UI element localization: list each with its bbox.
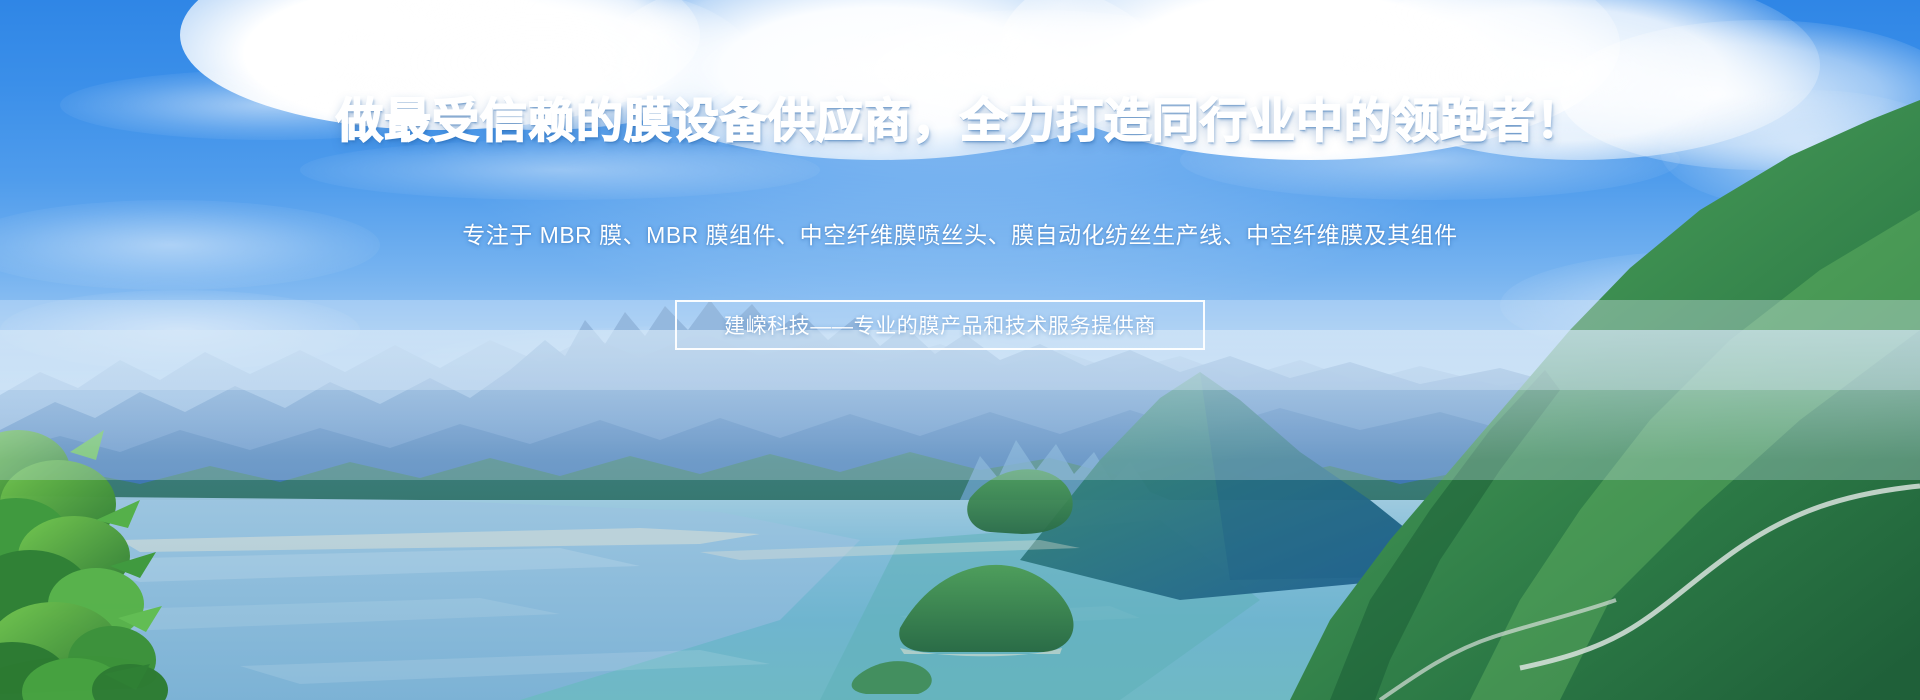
banner-headline: 做最受信赖的膜设备供应商，全力打造同行业中的领跑者！ bbox=[0, 96, 1920, 149]
banner-tagline: 建嵘科技——专业的膜产品和技术服务提供商 bbox=[724, 310, 1156, 340]
hero-banner: 做最受信赖的膜设备供应商，全力打造同行业中的领跑者！ 专注于 MBR 膜、MBR… bbox=[0, 0, 1920, 700]
banner-content: 做最受信赖的膜设备供应商，全力打造同行业中的领跑者！ 专注于 MBR 膜、MBR… bbox=[0, 0, 1920, 700]
banner-subtitle: 专注于 MBR 膜、MBR 膜组件、中空纤维膜喷丝头、膜自动化纺丝生产线、中空纤… bbox=[0, 216, 1920, 250]
tagline-box: 建嵘科技——专业的膜产品和技术服务提供商 bbox=[675, 300, 1205, 350]
